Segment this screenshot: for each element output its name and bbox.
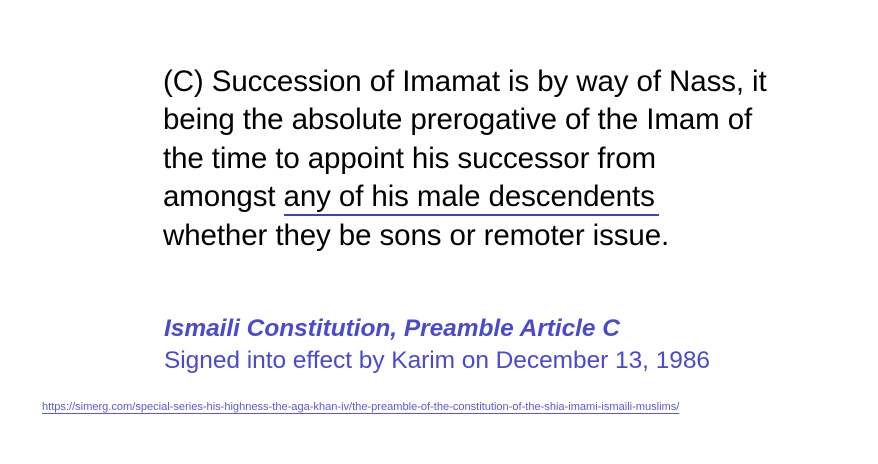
quote-line-3: the time to appoint his successor from xyxy=(163,140,763,178)
slide-canvas: (C) Succession of Imamat is by way of Na… xyxy=(0,0,878,464)
citation-block: Ismaili Constitution, Preamble Article C… xyxy=(164,313,824,376)
quote-paragraph: (C) Succession of Imamat is by way of Na… xyxy=(163,63,763,255)
quote-line-4: amongst any of his male descendents xyxy=(163,178,763,216)
quote-line-2: being the absolute prerogative of the Im… xyxy=(163,101,763,139)
citation-signed-date: Signed into effect by Karim on December … xyxy=(164,345,824,377)
quote-line-5: whether they be sons or remoter issue. xyxy=(163,217,763,255)
quote-line-4-prefix: amongst xyxy=(163,180,284,213)
underlined-phrase: any of his male descendents xyxy=(284,180,659,216)
quote-line-1: (C) Succession of Imamat is by way of Na… xyxy=(163,63,763,101)
source-url-link[interactable]: https://simerg.com/special-series-his-hi… xyxy=(42,400,679,415)
citation-title: Ismaili Constitution, Preamble Article C xyxy=(164,313,824,345)
